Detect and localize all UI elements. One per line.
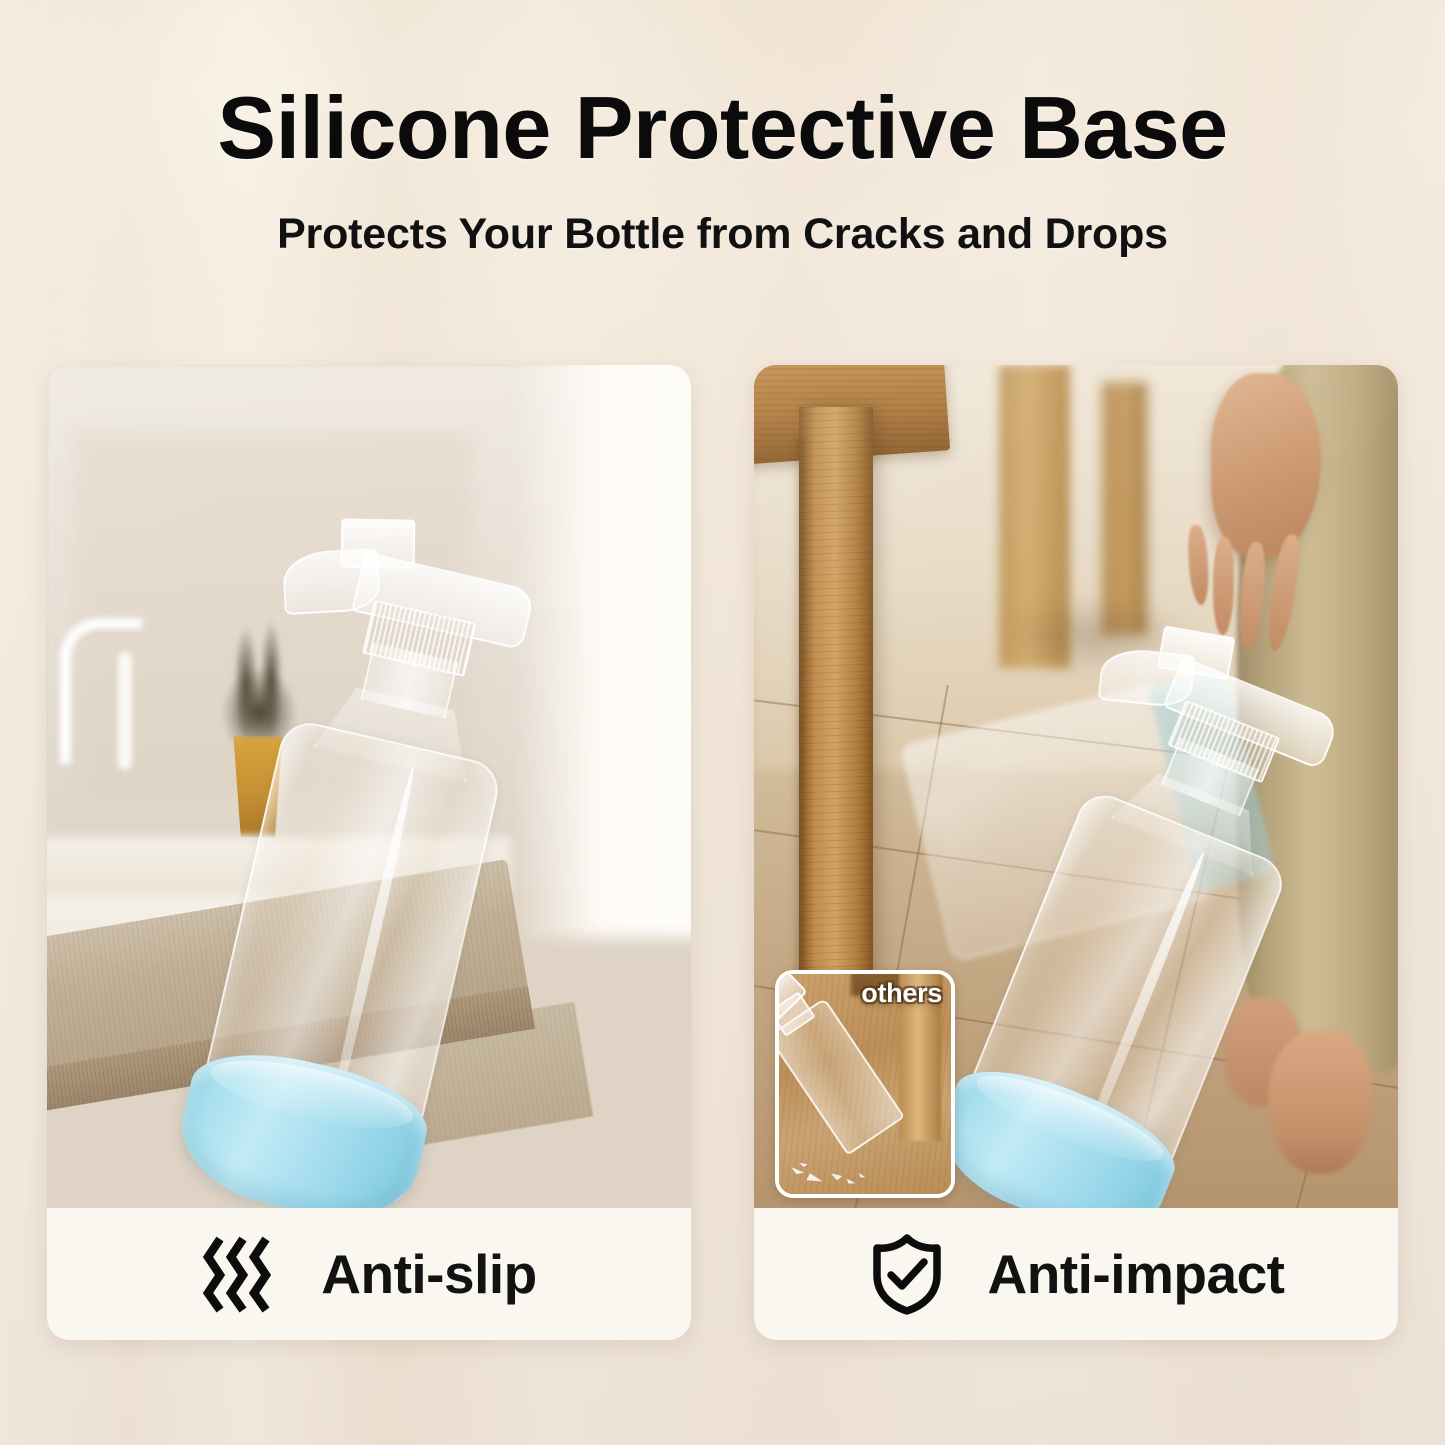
header-block: Silicone Protective Base Protects Your B… [0,0,1445,259]
person-foot-front [1269,1031,1372,1174]
zigzag-wave-icon [201,1233,279,1315]
shield-check-icon [868,1233,946,1315]
faucet-stem [118,652,132,770]
glass-shard [845,1179,855,1186]
inset-label-others: others [861,978,942,1009]
glass-shard [858,1173,866,1179]
caption-bar-anti-impact: Anti-impact [754,1208,1398,1340]
glass-shards [786,1137,893,1185]
caption-label-anti-impact: Anti-impact [988,1242,1285,1306]
page-subtitle: Protects Your Bottle from Cracks and Dro… [0,172,1445,259]
glass-shard [806,1172,824,1184]
bathroom-scene [47,365,691,1208]
caption-label-anti-slip: Anti-slip [321,1242,536,1306]
glass-shard [790,1167,805,1176]
page-title: Silicone Protective Base [0,84,1445,172]
feature-card-anti-slip[interactable]: Anti-slip [47,365,691,1340]
table-leg-shading [799,438,805,1043]
caption-bar-anti-slip: Anti-slip [47,1208,691,1340]
others-comparison-inset[interactable]: others [775,970,955,1198]
feature-card-anti-impact[interactable]: others Anti-impact [754,365,1398,1340]
infographic-canvas: Silicone Protective Base Protects Your B… [0,0,1445,1445]
feature-panels: Anti-slip [47,365,1398,1340]
anti-impact-photo: others [754,365,1398,1208]
tile-floor-scene: others [754,365,1398,1208]
anti-slip-photo [47,365,691,1208]
glass-shard [829,1172,842,1181]
glass-shard [798,1162,807,1168]
bathroom-light-pillar [511,365,691,938]
